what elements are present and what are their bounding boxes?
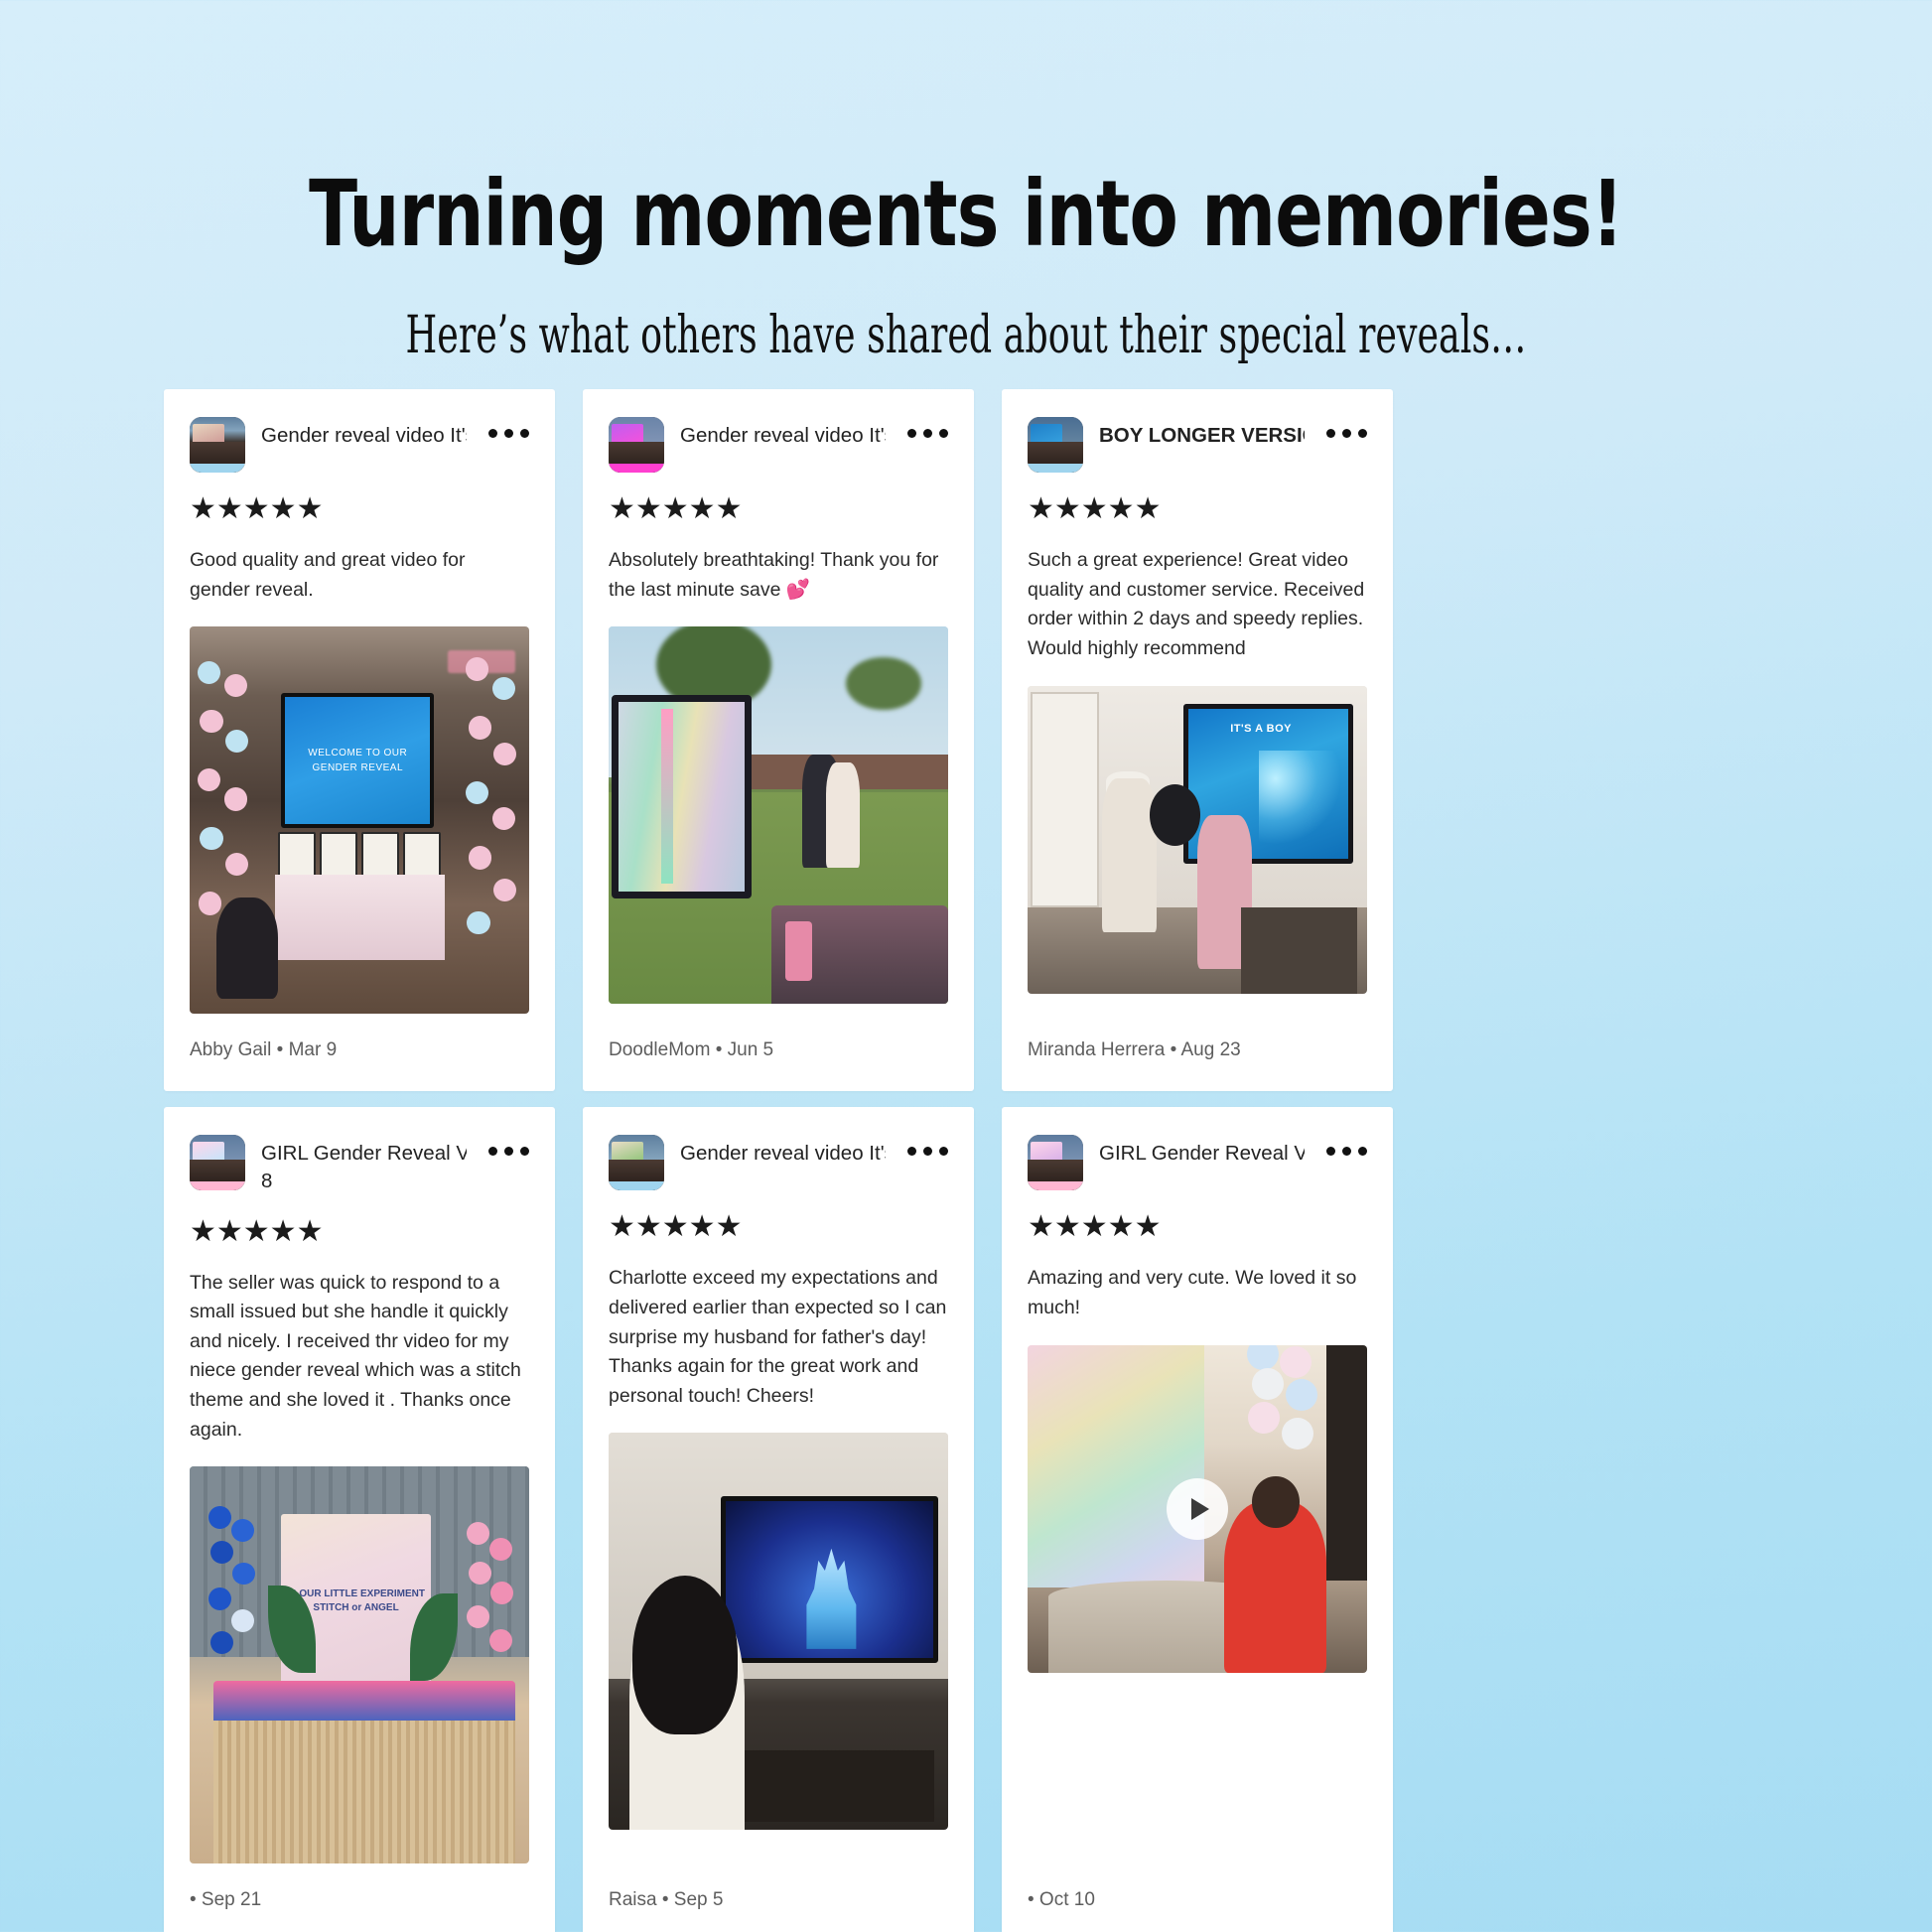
star-rating: ★★★★★ — [1028, 494, 1367, 524]
review-text: The seller was quick to respond to a sma… — [190, 1269, 529, 1446]
page-title: Turning moments into memories! — [212, 169, 1720, 260]
listing-thumbnail[interactable] — [1028, 417, 1083, 473]
review-card: BOY LONGER VERSION Gender … ★★★★★ Such a… — [1002, 389, 1393, 1091]
two-hearts-icon: 💕 — [786, 579, 810, 601]
star-rating: ★★★★★ — [609, 1212, 948, 1242]
star-rating: ★★★★★ — [190, 494, 529, 524]
listing-title[interactable]: Gender reveal video It's a Girl! Vide… — [680, 422, 886, 450]
listing-title[interactable]: Gender reveal video It's a Boy! Vide… — [680, 1140, 886, 1168]
review-footer: Raisa • Sep 5 — [609, 1863, 948, 1932]
reviews-grid: Gender reveal video It's a Boy! Vide… ★★… — [164, 389, 1713, 1932]
review-card-header: GIRL Gender Reveal Video digital … 8 — [190, 1135, 529, 1194]
listing-title[interactable]: GIRL Gender Reveal Video digital … — [261, 1140, 467, 1168]
listing-thumbnail[interactable] — [609, 1135, 664, 1190]
listing-title[interactable]: Gender reveal video It's a Boy! Vide… — [261, 422, 467, 450]
review-footer: Miranda Herrera • Aug 23 — [1028, 1014, 1367, 1091]
review-text: Amazing and very cute. We loved it so mu… — [1028, 1264, 1367, 1322]
play-button-icon[interactable] — [1167, 1478, 1228, 1540]
review-text: Absolutely breathtaking! Thank you for t… — [609, 546, 948, 605]
listing-title-block: Gender reveal video It's a Girl! Vide… — [680, 417, 886, 450]
review-card-header: BOY LONGER VERSION Gender … — [1028, 417, 1367, 473]
page-header: Turning moments into memories! Here’s wh… — [0, 0, 1932, 361]
review-photo[interactable]: WELCOME TO OUR GENDER REVEAL — [190, 626, 529, 1014]
review-text-body: Absolutely breathtaking! Thank you for t… — [609, 549, 938, 601]
review-card: GIRL Gender Reveal Video digital … ★★★★★… — [1002, 1107, 1393, 1932]
review-photo-caption: IT'S A BOY — [1230, 723, 1292, 735]
review-card-header: Gender reveal video It's a Girl! Vide… — [609, 417, 948, 473]
review-footer: • Sep 21 — [190, 1863, 529, 1932]
review-text: Such a great experience! Great video qua… — [1028, 546, 1367, 664]
review-photo-caption: WELCOME TO OUR GENDER REVEAL — [281, 693, 434, 829]
star-rating: ★★★★★ — [190, 1217, 529, 1247]
listing-title-block: BOY LONGER VERSION Gender … — [1099, 417, 1305, 450]
review-photo[interactable] — [609, 1433, 948, 1830]
more-options-icon[interactable] — [488, 417, 529, 438]
more-options-icon[interactable] — [488, 1135, 529, 1156]
listing-title-block: Gender reveal video It's a Boy! Vide… — [261, 417, 467, 450]
listing-title-block: Gender reveal video It's a Boy! Vide… — [680, 1135, 886, 1168]
review-footer: DoodleMom • Jun 5 — [609, 1014, 948, 1091]
star-rating: ★★★★★ — [1028, 1212, 1367, 1242]
page-subtitle: Here’s what others have shared about the… — [290, 310, 1642, 361]
review-card: Gender reveal video It's a Boy! Vide… ★★… — [164, 389, 555, 1091]
more-options-icon[interactable] — [1326, 417, 1367, 438]
listing-title[interactable]: GIRL Gender Reveal Video digital … — [1099, 1140, 1305, 1168]
listing-title[interactable]: BOY LONGER VERSION Gender … — [1099, 422, 1305, 450]
listing-thumbnail[interactable] — [190, 417, 245, 473]
review-photo[interactable]: IT'S A BOY — [1028, 686, 1367, 994]
more-options-icon[interactable] — [1326, 1135, 1367, 1156]
review-card: Gender reveal video It's a Boy! Vide… ★★… — [583, 1107, 974, 1932]
review-text: Good quality and great video for gender … — [190, 546, 529, 605]
review-card-header: Gender reveal video It's a Boy! Vide… — [190, 417, 529, 473]
listing-thumbnail[interactable] — [190, 1135, 245, 1190]
review-photo[interactable] — [609, 626, 948, 1004]
review-card-header: GIRL Gender Reveal Video digital … — [1028, 1135, 1367, 1190]
review-photo[interactable] — [1028, 1345, 1367, 1673]
review-photo[interactable]: IS OUR LITTLE EXPERIMENT STITCH or ANGEL — [190, 1466, 529, 1863]
review-card: Gender reveal video It's a Girl! Vide… ★… — [583, 389, 974, 1091]
star-rating: ★★★★★ — [609, 494, 948, 524]
review-card-header: Gender reveal video It's a Boy! Vide… — [609, 1135, 948, 1190]
review-text: Charlotte exceed my expectations and del… — [609, 1264, 948, 1411]
review-card: GIRL Gender Reveal Video digital … 8 ★★★… — [164, 1107, 555, 1932]
listing-thumbnail[interactable] — [1028, 1135, 1083, 1190]
listing-title-block: GIRL Gender Reveal Video digital … 8 — [261, 1135, 467, 1194]
listing-title-block: GIRL Gender Reveal Video digital … — [1099, 1135, 1305, 1168]
listing-title-line2[interactable]: 8 — [261, 1168, 467, 1195]
more-options-icon[interactable] — [907, 417, 948, 438]
listing-thumbnail[interactable] — [609, 417, 664, 473]
review-footer: • Oct 10 — [1028, 1863, 1367, 1932]
more-options-icon[interactable] — [907, 1135, 948, 1156]
review-footer: Abby Gail • Mar 9 — [190, 1014, 529, 1091]
